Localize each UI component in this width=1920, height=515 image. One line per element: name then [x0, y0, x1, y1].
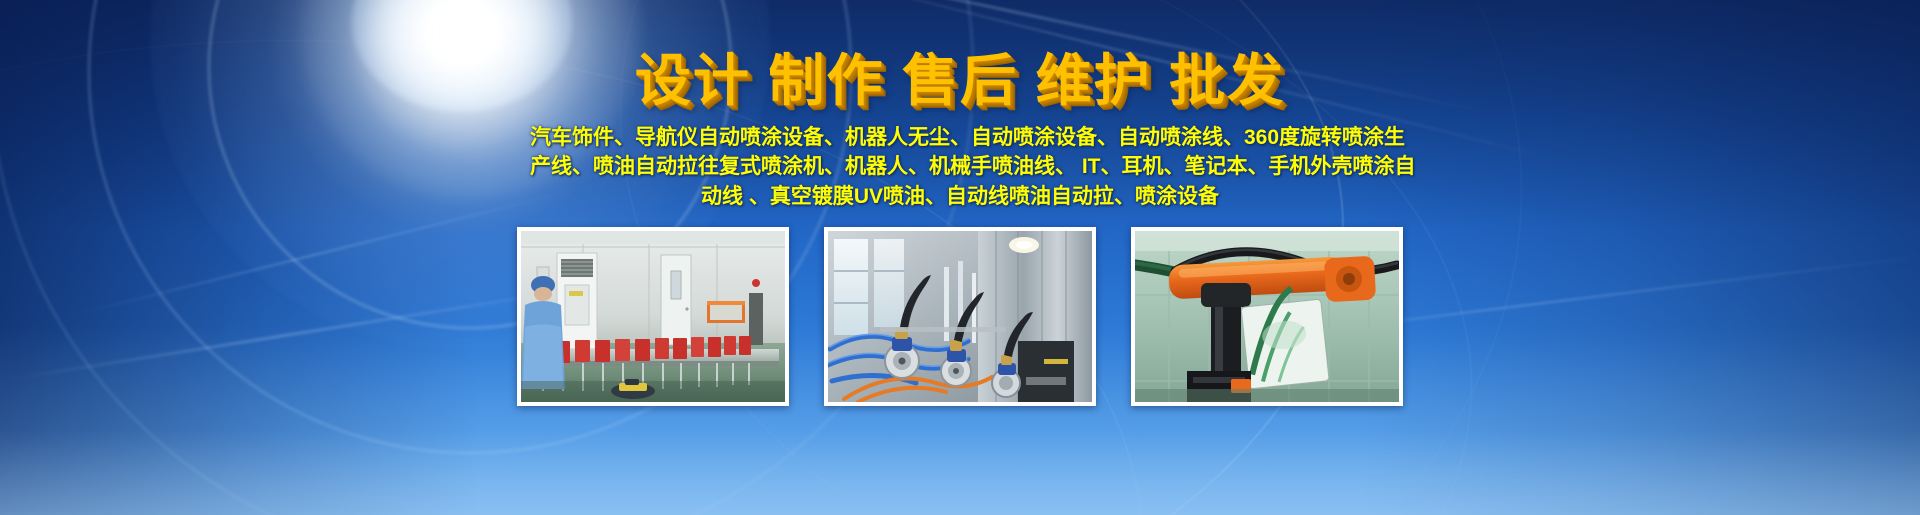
- promo-banner: 设计 制作 售后 维护 批发 汽车饰件、导航仪自动喷涂设备、机器人无尘、自动喷涂…: [0, 0, 1920, 515]
- description-line-3: 动线 、真空镀膜UV喷油、自动线喷油自动拉、喷涂设备: [530, 182, 1390, 211]
- description-line-1: 汽车饰件、导航仪自动喷涂设备、机器人无尘、自动喷涂设备、自动喷涂线、360度旋转…: [530, 123, 1390, 152]
- clean-room-coating-line-image: [521, 231, 785, 402]
- banner-headline: 设计 制作 售后 维护 批发: [635, 52, 1285, 111]
- clean-room-coating-line-photo[interactable]: [517, 227, 789, 406]
- automatic-spray-gun-line-photo[interactable]: [824, 227, 1096, 406]
- banner-content: 设计 制作 售后 维护 批发 汽车饰件、导航仪自动喷涂设备、机器人无尘、自动喷涂…: [0, 0, 1920, 515]
- robot-spray-arm-photo[interactable]: [1131, 227, 1403, 406]
- automatic-spray-gun-line-image: [828, 231, 1092, 402]
- photo-gallery: [517, 227, 1403, 406]
- banner-description: 汽车饰件、导航仪自动喷涂设备、机器人无尘、自动喷涂设备、自动喷涂线、360度旋转…: [530, 123, 1390, 211]
- description-line-2: 产线、喷油自动拉往复式喷涂机、机器人、机械手喷油线、 IT、耳机、笔记本、手机外…: [530, 152, 1390, 181]
- robot-spray-arm-image: [1135, 231, 1399, 402]
